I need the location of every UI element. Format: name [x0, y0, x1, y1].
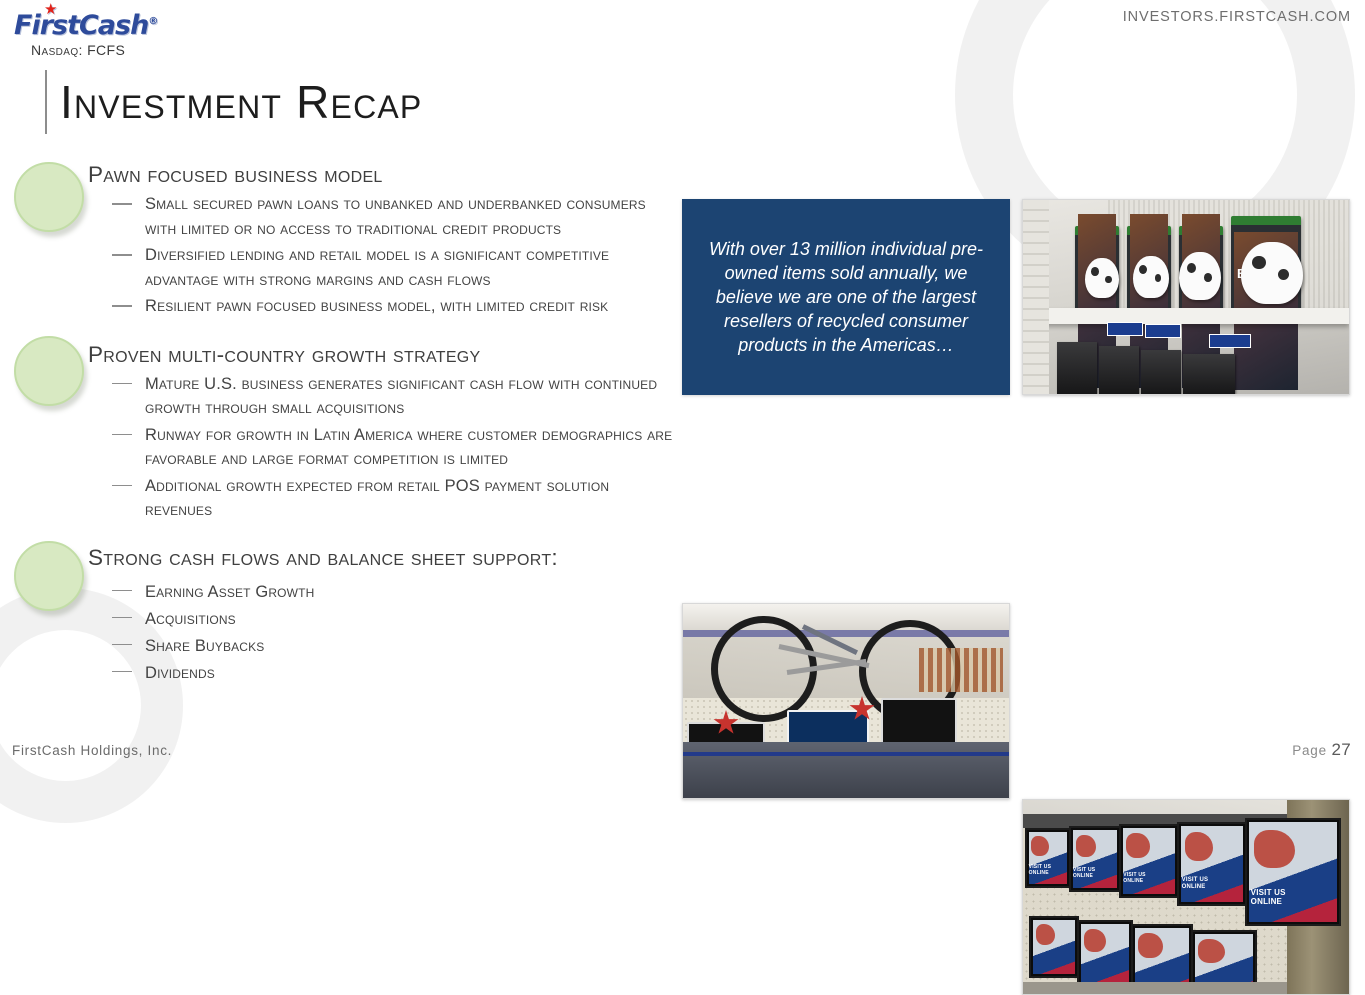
section-sub-list: Earning Asset Growth Acquisitions Share …: [0, 579, 680, 687]
list-item: Additional growth expected from retail P…: [0, 474, 680, 523]
section-pawn-focused-business-model: Pawn focused business model Small secure…: [0, 162, 680, 319]
section-heading: Pawn focused business model: [0, 162, 680, 188]
investor-relations-url: INVESTORS.FIRSTCASH.COM: [1123, 9, 1351, 25]
list-item-text: Resilient pawn focused business model, w…: [145, 297, 608, 315]
list-item: Share Buybacks: [0, 633, 680, 660]
list-item-text: Share Buybacks: [145, 637, 264, 655]
list-item-text: Acquisitions: [145, 610, 236, 628]
list-item: Dividends: [0, 660, 680, 687]
dash-bullet-icon: [112, 590, 132, 592]
list-item-text: Earning Asset Growth: [145, 583, 314, 601]
dash-bullet-icon: [112, 485, 132, 487]
list-item: Runway for growth in Latin America where…: [0, 423, 680, 472]
list-item: Small secured pawn loans to unbanked and…: [0, 192, 680, 241]
section-sub-list: Mature U.S. business generates significa…: [0, 372, 680, 523]
dash-bullet-icon: [112, 644, 132, 646]
dash-bullet-icon: [112, 254, 132, 256]
list-item-text: Additional growth expected from retail P…: [145, 477, 609, 520]
footer-page-indicator: Page 27: [1292, 740, 1351, 760]
dash-bullet-icon: [112, 203, 132, 205]
page-number: 27: [1331, 740, 1351, 759]
media-grid: With over 13 million individual pre-owne…: [682, 199, 1350, 603]
section-proven-multi-country-growth-strategy: Proven multi-country growth strategy Mat…: [0, 342, 680, 523]
list-item: Acquisitions: [0, 606, 680, 633]
star-icon: ★: [44, 2, 56, 17]
dash-bullet-icon: [112, 383, 132, 385]
photo-bike-and-monitors: [682, 603, 1010, 799]
list-item: Mature U.S. business generates significa…: [0, 372, 680, 421]
quote-callout-box: With over 13 million individual pre-owne…: [682, 199, 1010, 395]
logo-wordmark: ★ FirstCash®: [14, 7, 158, 41]
list-item-text: Diversified lending and retail model is …: [145, 246, 609, 289]
quote-text: With over 13 million individual pre-owne…: [704, 237, 988, 357]
content-column: Pawn focused business model Small secure…: [0, 162, 680, 687]
list-item: Diversified lending and retail model is …: [0, 243, 680, 292]
list-item: Earning Asset Growth: [0, 579, 680, 606]
photo-game-consoles: BATTL: [1022, 199, 1350, 395]
logo-text: FirstCash: [14, 10, 148, 41]
list-item: Resilient pawn focused business model, w…: [0, 294, 680, 319]
list-item-text: Mature U.S. business generates significa…: [145, 375, 657, 418]
slide-title-text: Investment Recap: [60, 77, 422, 127]
brand-logo: ★ FirstCash® Nasdaq: FCFS: [14, 7, 204, 58]
page-label: Page: [1292, 743, 1327, 758]
photo-tv-row: VISIT USONLINE VISIT USONLINE VISIT USON…: [1022, 799, 1350, 995]
section-heading: Strong cash flows and balance sheet supp…: [0, 545, 680, 571]
section-sub-list: Small secured pawn loans to unbanked and…: [0, 192, 680, 319]
ticker-symbol: Nasdaq: FCFS: [31, 42, 204, 58]
list-item-text: Small secured pawn loans to unbanked and…: [145, 195, 646, 238]
dash-bullet-icon: [112, 434, 132, 436]
page-title: Investment Recap: [45, 70, 422, 134]
dash-bullet-icon: [112, 617, 132, 619]
section-strong-cash-flows: Strong cash flows and balance sheet supp…: [0, 545, 680, 687]
section-heading: Proven multi-country growth strategy: [0, 342, 680, 368]
registered-trademark-icon: ®: [148, 16, 158, 27]
dash-bullet-icon: [112, 305, 132, 307]
title-accent-rule: [45, 70, 47, 134]
dash-bullet-icon: [112, 671, 132, 673]
list-item-text: Runway for growth in Latin America where…: [145, 426, 672, 469]
list-item-text: Dividends: [145, 664, 215, 682]
footer-company-name: FirstCash Holdings, Inc.: [12, 743, 172, 758]
